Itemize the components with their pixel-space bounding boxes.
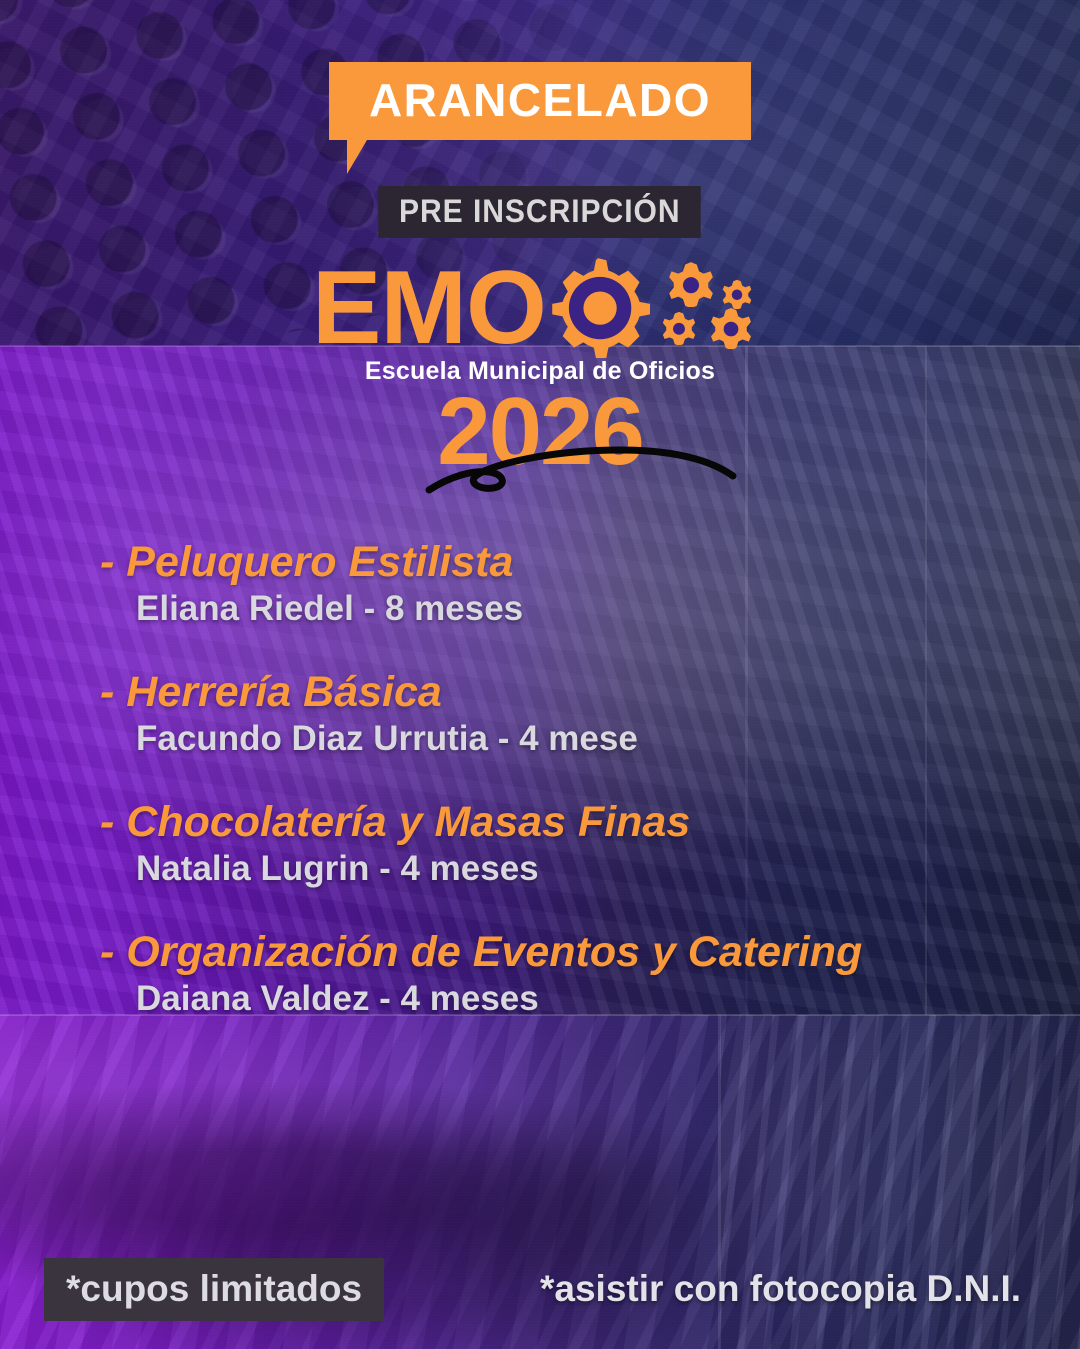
- course-title: - Peluquero Estilista: [100, 540, 862, 586]
- course-instructor: Natalia Lugrin - 4 meses: [136, 850, 862, 889]
- year-block: 2026: [437, 384, 643, 480]
- course-item: - Herrería Básica Facundo Diaz Urrutia -…: [100, 670, 862, 758]
- gear-small-icon-3: [662, 311, 696, 345]
- poster-footer: *cupos limitados *asistir con fotocopia …: [0, 1258, 1080, 1320]
- gear-small-icon-2: [722, 279, 752, 309]
- arancelado-label: ARANCELADO: [329, 62, 751, 140]
- course-item: - Chocolatería y Masas Finas Natalia Lug…: [100, 800, 862, 888]
- gear-small-icon-4: [710, 307, 752, 349]
- poster-header: ARANCELADO PRE INSCRIPCIÓN EMO: [0, 0, 1080, 480]
- gear-small-icon-1: [668, 261, 714, 307]
- course-title: - Herrería Básica: [100, 670, 862, 716]
- course-instructor: Daiana Valdez - 4 meses: [136, 980, 862, 1019]
- ribbon-tail-icon: [347, 140, 387, 174]
- year-underline-icon: [411, 436, 741, 498]
- course-title: - Organización de Eventos y Catering: [100, 930, 862, 976]
- emo-logo-letters: EMO: [312, 264, 546, 353]
- course-list: - Peluquero Estilista Eliana Riedel - 8 …: [100, 540, 862, 1018]
- course-item: - Peluquero Estilista Eliana Riedel - 8 …: [100, 540, 862, 628]
- pre-inscripcion-badge: PRE INSCRIPCIÓN: [379, 186, 702, 238]
- course-title: - Chocolatería y Masas Finas: [100, 800, 862, 846]
- emo-logo: EMO: [0, 254, 1080, 363]
- course-instructor: Eliana Riedel - 8 meses: [136, 590, 862, 629]
- note-fotocopia-dni: *asistir con fotocopia D.N.I.: [540, 1258, 1021, 1321]
- gear-large-icon: [546, 254, 650, 363]
- poster: ARANCELADO PRE INSCRIPCIÓN EMO: [0, 0, 1080, 1349]
- note-cupos-limitados: *cupos limitados: [44, 1258, 384, 1321]
- gear-cluster: [660, 257, 768, 361]
- course-item: - Organización de Eventos y Catering Dai…: [100, 930, 862, 1018]
- arancelado-ribbon: ARANCELADO: [329, 62, 751, 140]
- course-instructor: Facundo Diaz Urrutia - 4 mese: [136, 720, 862, 759]
